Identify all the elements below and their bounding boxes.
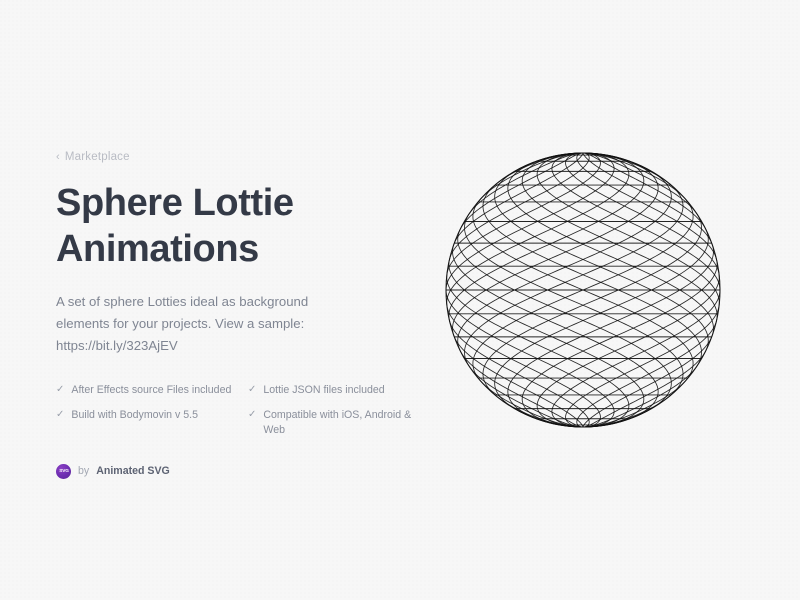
feature-item: ✓ Build with Bodymovin v 5.5 <box>56 408 248 438</box>
description-text: A set of sphere Lotties ideal as backgro… <box>56 291 346 357</box>
feature-item: ✓ After Effects source Files included <box>56 383 248 398</box>
page-title: Sphere Lottie Animations <box>56 180 356 273</box>
author-byline[interactable]: SVG by Animated SVG <box>56 464 416 479</box>
feature-item: ✓ Lottie JSON files included <box>248 383 418 398</box>
sphere-svg <box>441 148 725 436</box>
description-body: A set of sphere Lotties ideal as backgro… <box>56 294 308 331</box>
animated-svg-avatar-icon: SVG <box>56 464 71 479</box>
check-icon: ✓ <box>248 383 256 398</box>
by-label: by <box>78 466 89 477</box>
feature-label: Compatible with iOS, Android & Web <box>263 408 418 438</box>
author-name[interactable]: Animated SVG <box>96 466 170 477</box>
check-icon: ✓ <box>56 383 64 398</box>
check-icon: ✓ <box>248 408 256 423</box>
breadcrumb-label[interactable]: Marketplace <box>65 152 130 164</box>
breadcrumb[interactable]: ‹ Marketplace <box>56 152 416 164</box>
feature-item: ✓ Compatible with iOS, Android & Web <box>248 408 418 438</box>
chevron-left-icon: ‹ <box>56 152 60 163</box>
check-icon: ✓ <box>56 408 64 423</box>
sample-url[interactable]: https://bit.ly/323AjEV <box>56 335 346 357</box>
feature-label: After Effects source Files included <box>71 383 231 398</box>
avatar-initials: SVG <box>59 469 68 474</box>
feature-label: Lottie JSON files included <box>263 383 384 398</box>
wireframe-sphere-illustration <box>441 148 725 436</box>
feature-list: ✓ After Effects source Files included ✓ … <box>56 383 416 438</box>
app-root: ‹ Marketplace Sphere Lottie Animations A… <box>0 0 800 600</box>
feature-label: Build with Bodymovin v 5.5 <box>71 408 198 423</box>
detail-content: ‹ Marketplace Sphere Lottie Animations A… <box>56 152 416 479</box>
